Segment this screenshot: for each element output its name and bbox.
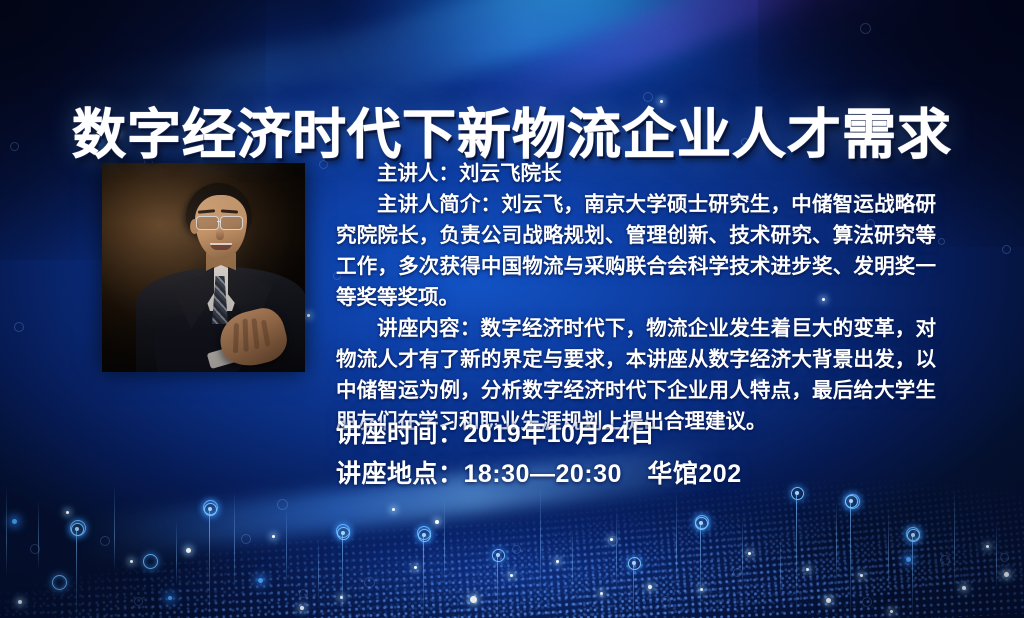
lecture-poster: 数字经济时代下新物流企业人才需求 主讲人：刘云飞院长 主讲人简介：刘云飞，南京大… [0, 0, 1024, 618]
lecture-description-block: 主讲人：刘云飞院长 主讲人简介：刘云飞，南京大学硕士研究生，中储智运战略研究院院… [336, 158, 936, 437]
lecture-time-line: 讲座时间：2019年10月24日 [336, 414, 956, 454]
photo-lighting-overlay [102, 163, 305, 372]
speaker-line: 主讲人：刘云飞院长 [336, 158, 936, 189]
speaker-portrait-photo [102, 163, 305, 372]
speaker-bio-line: 主讲人简介：刘云飞，南京大学硕士研究生，中储智运战略研究院院长，负责公司战略规划… [336, 189, 936, 313]
lecture-location-line: 讲座地点：18:30—20:30 华馆202 [336, 454, 956, 494]
lecture-meta-block: 讲座时间：2019年10月24日 讲座地点：18:30—20:30 华馆202 [336, 414, 956, 494]
